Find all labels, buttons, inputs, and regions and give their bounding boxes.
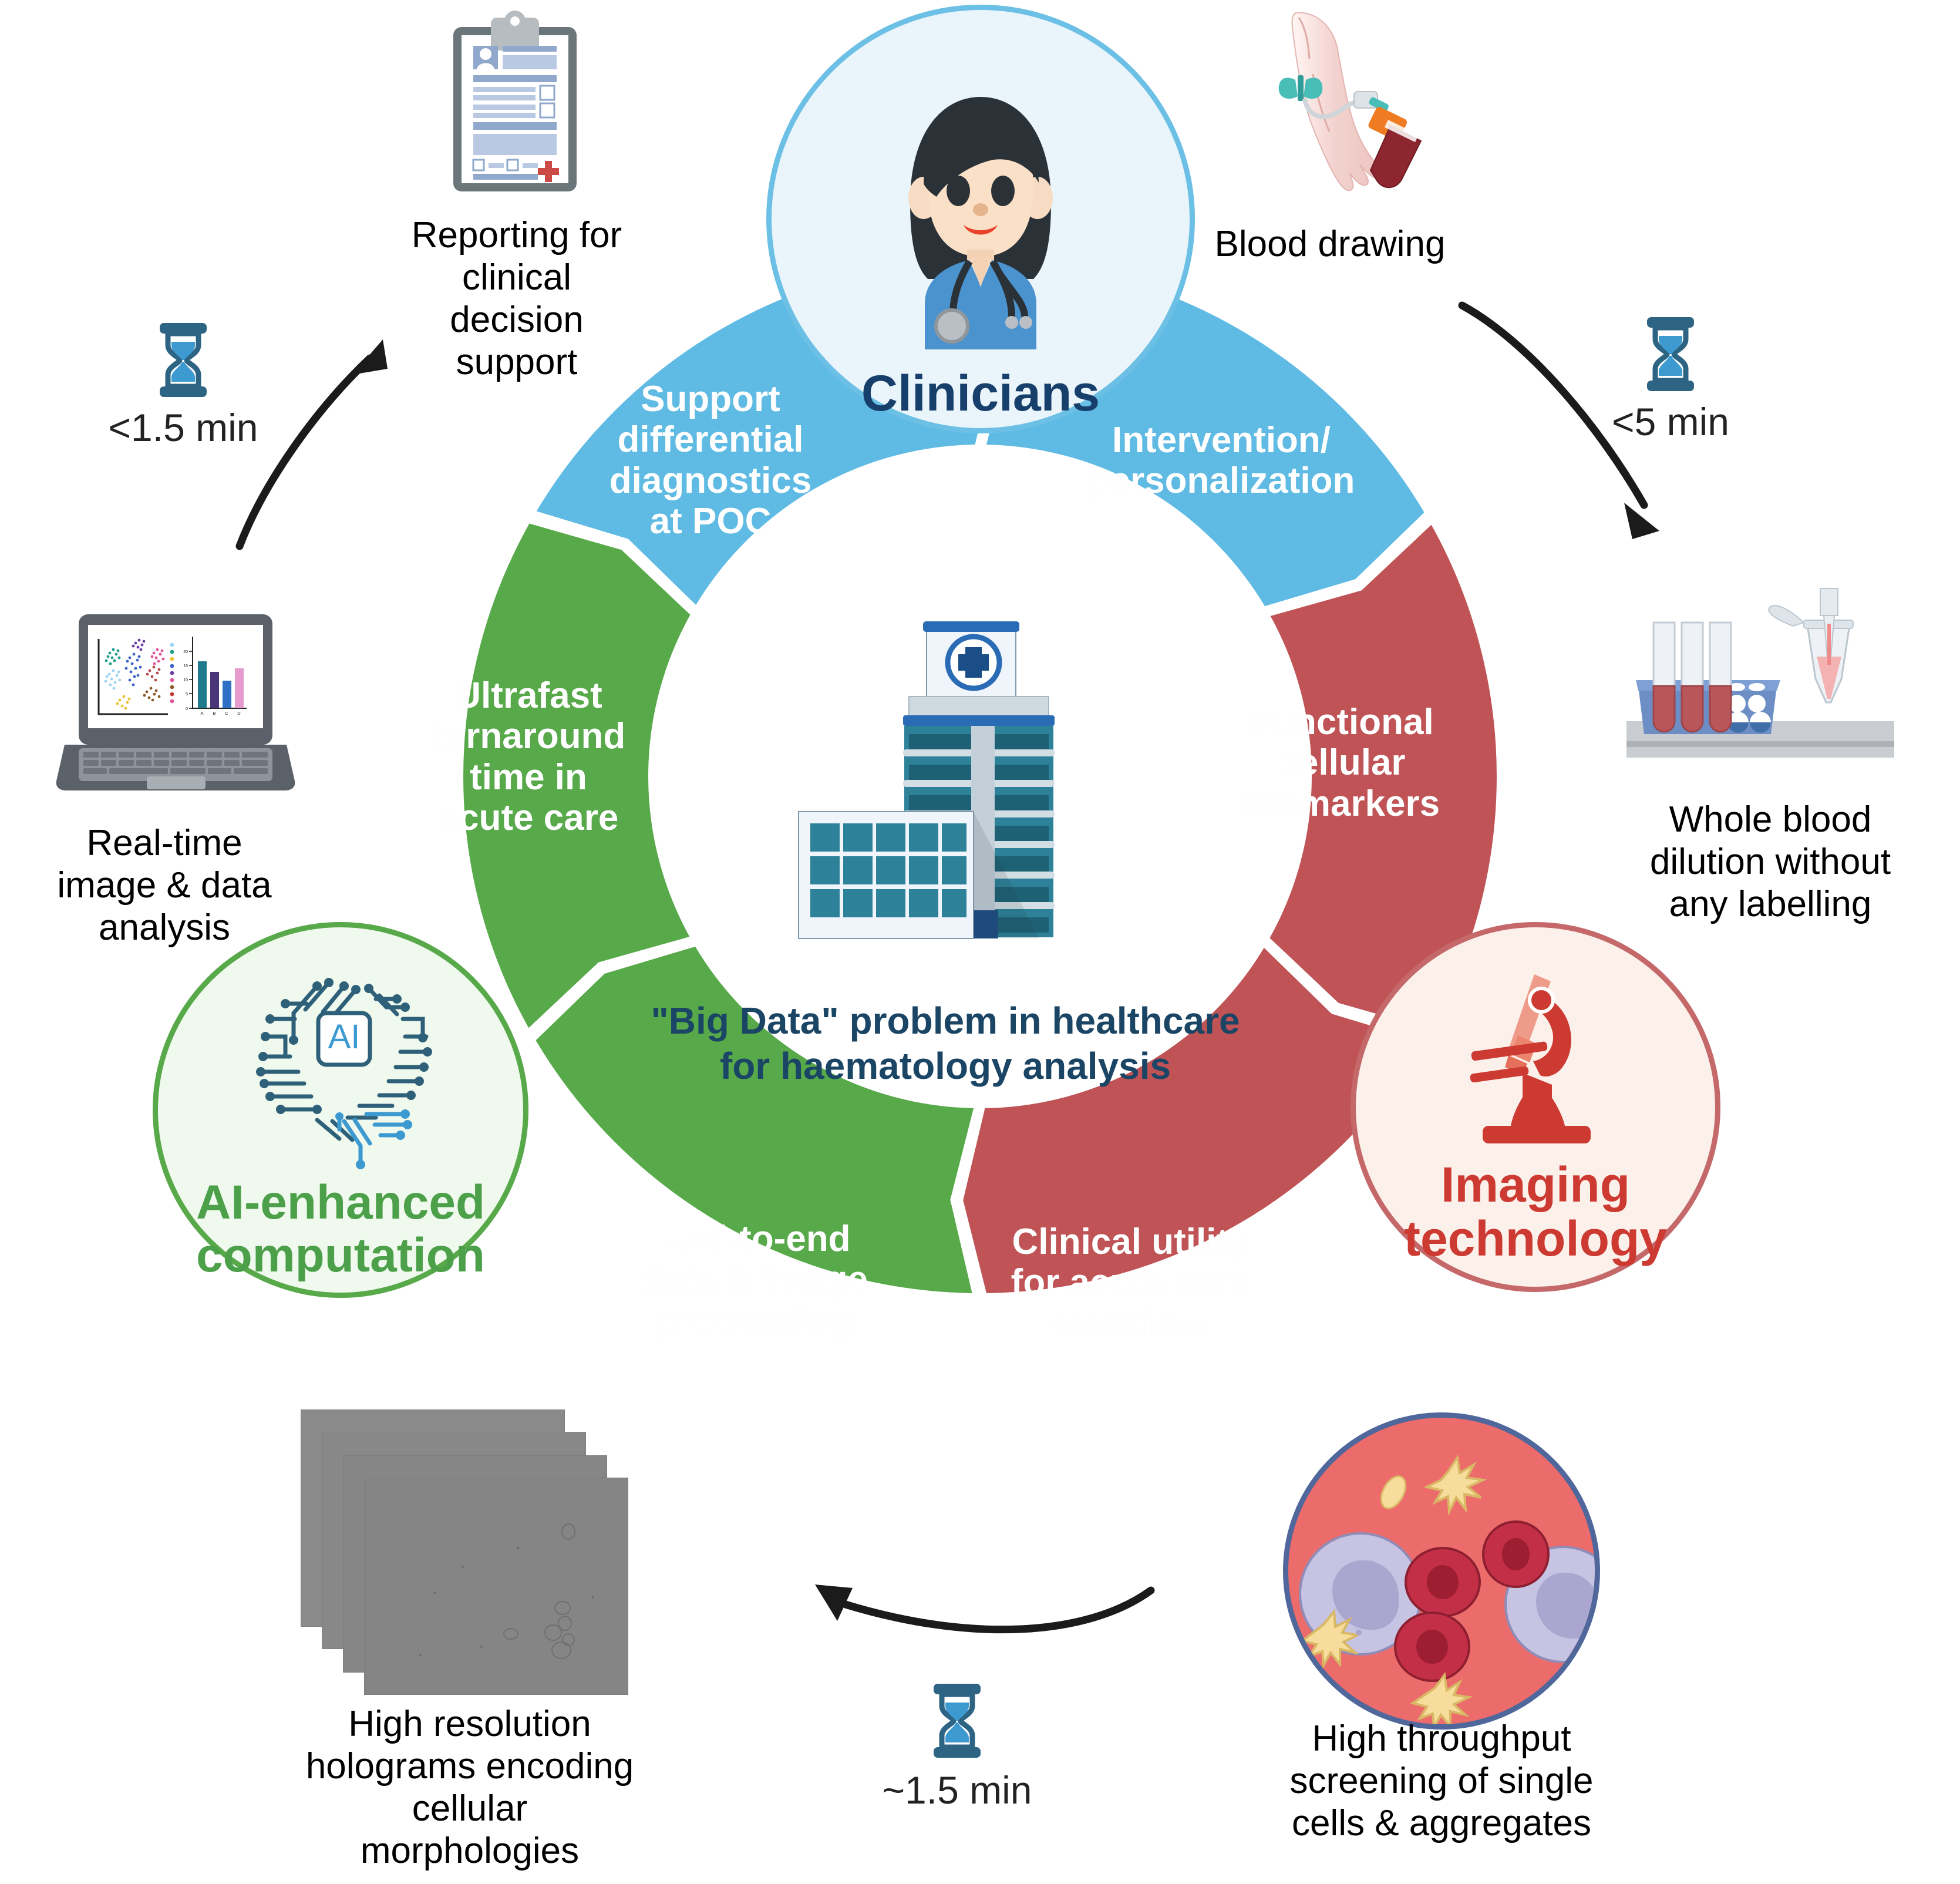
ring-label-functional-biomarkers: Functional cellular biomarkers	[1224, 702, 1459, 824]
svg-text:D: D	[237, 711, 241, 716]
ring-label-clinical-utility: Clinical utility for acute care workflow	[1007, 1222, 1254, 1344]
female-doctor-icon	[854, 73, 1107, 355]
hourglass-icon-process	[928, 1683, 986, 1759]
laptop-data-analysis-icon: 05 101520 AB CD	[53, 611, 299, 805]
caption-screening: High throughput screening of single cell…	[1265, 1718, 1618, 1845]
svg-text:5: 5	[186, 692, 188, 697]
caption-blood-drawing: Blood drawing	[1207, 223, 1453, 265]
arrow-to-reporting	[176, 305, 423, 552]
svg-text:15: 15	[183, 664, 188, 668]
center-caption: "Big Data" problem in healthcare for hae…	[628, 998, 1262, 1089]
ring-label-support-differential: Support differential diagnostics at POC	[599, 379, 822, 542]
arrow-to-holograms	[781, 1550, 1168, 1680]
hub-clinicians-label: Clinicians	[861, 366, 1100, 422]
hub-ai-computation[interactable]: AI AI-enhanced computation	[153, 922, 528, 1298]
hub-imaging-label: Imaging technology	[1404, 1158, 1667, 1266]
test-tube-rack-pipette-icon	[1626, 587, 1920, 810]
hub-imaging-technology[interactable]: Imaging technology	[1351, 922, 1720, 1292]
hologram-image-stack-icon	[301, 1409, 618, 1685]
caption-holograms: High resolution holograms encoding cellu…	[299, 1703, 640, 1872]
ai-brain-circuit-icon: AI	[229, 963, 452, 1174]
svg-text:0: 0	[186, 707, 188, 711]
clipboard-medical-report-icon	[442, 5, 588, 199]
hospital-building-icon	[763, 593, 1116, 981]
timing-process-label: ~1.5 min	[863, 1768, 1051, 1812]
hub-clinicians[interactable]: Clinicians	[766, 5, 1195, 433]
svg-text:B: B	[213, 711, 215, 716]
blood-cells-microscopy-icon	[1283, 1412, 1600, 1730]
caption-reporting: Reporting for clinical decision support	[411, 214, 622, 383]
arm-venipuncture-icon	[1245, 5, 1527, 228]
ai-chip-label: AI	[328, 1018, 361, 1056]
hub-ai-label: AI-enhanced computation	[196, 1176, 485, 1282]
svg-text:C: C	[225, 711, 228, 716]
svg-text:A: A	[200, 711, 203, 716]
ring-label-ultrafast-turnaround: Ultrafast turnaround time in acute care	[426, 675, 631, 839]
svg-text:10: 10	[183, 678, 188, 682]
microscope-icon	[1447, 964, 1624, 1152]
ring-label-end-to-end: End-to-end data & image processing	[637, 1219, 872, 1341]
arrow-to-dilution	[1450, 294, 1697, 564]
ring-label-intervention: Intervention/ personalization	[1083, 420, 1359, 502]
svg-text:20: 20	[183, 650, 188, 654]
caption-analysis: Real-time image & data analysis	[41, 822, 288, 949]
caption-dilution: Whole blood dilution without any labelli…	[1629, 799, 1911, 926]
